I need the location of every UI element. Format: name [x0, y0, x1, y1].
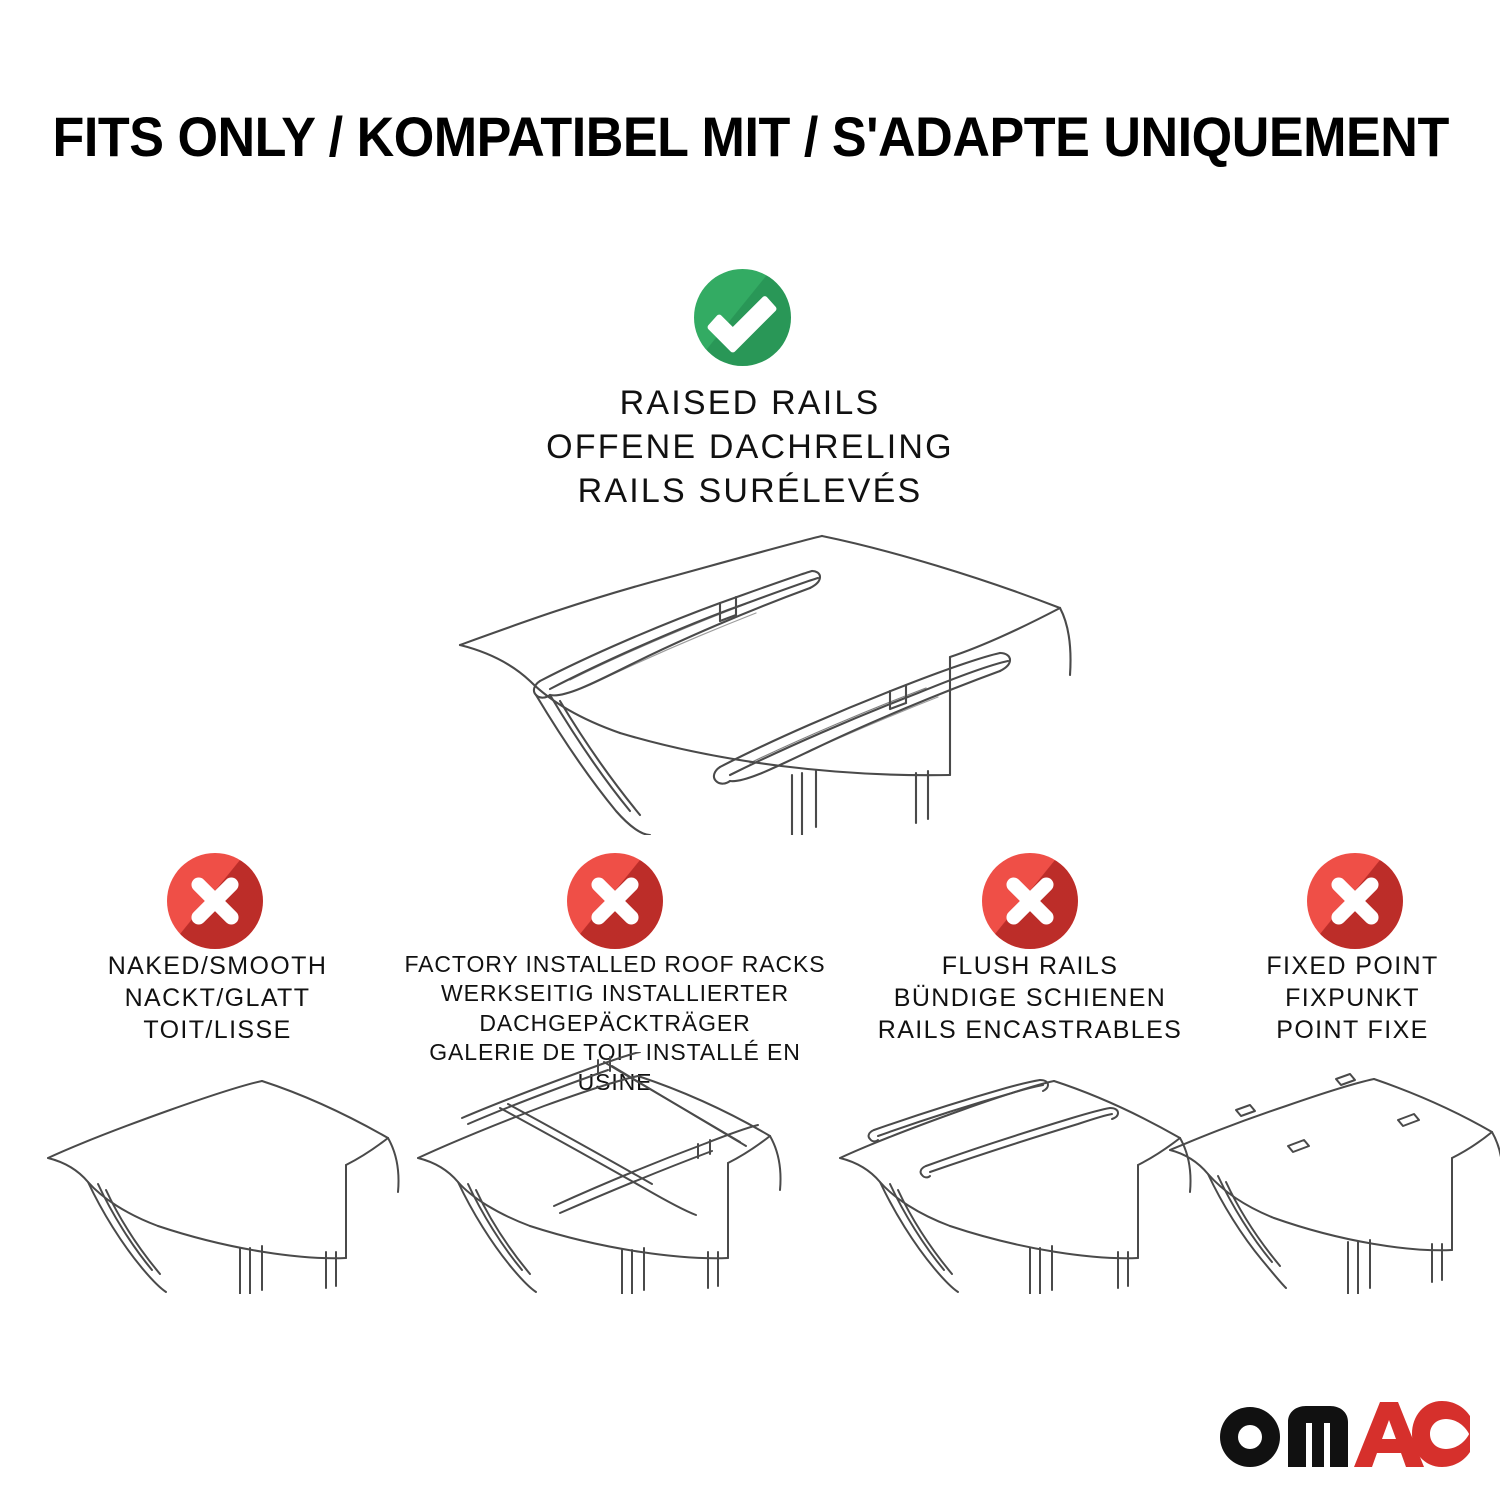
compatible-caption: RAISED RAILS OFFENE DACHRELING RAILS SUR… — [450, 381, 1050, 514]
incompatible-4-line-3: POINT FIXE — [1205, 1014, 1500, 1046]
cross-circle-icon — [982, 853, 1078, 949]
cross-circle-icon — [567, 853, 663, 949]
omac-logo — [1218, 1392, 1470, 1470]
incompatible-3-line-3: RAILS ENCASTRABLES — [855, 1014, 1205, 1046]
incompatible-2-line-1: FACTORY INSTALLED ROOF RACKS — [390, 950, 840, 979]
car-roof-fixed-point-illustration — [1160, 1062, 1500, 1294]
incompatible-2-line-3: DACHGEPÄCKTRÄGER — [390, 1009, 840, 1038]
check-circle-icon — [694, 269, 791, 366]
cross-circle-icon — [167, 853, 263, 949]
incompatible-1-line-3: TOIT/LISSE — [45, 1014, 390, 1046]
page-title: FITS ONLY / KOMPATIBEL MIT / S'ADAPTE UN… — [53, 104, 1448, 169]
car-roof-factory-racks-illustration — [408, 1052, 808, 1294]
cross-circle-icon — [1307, 853, 1403, 949]
incompatible-1-line-2: NACKT/GLATT — [45, 982, 390, 1014]
incompatible-caption-1: NAKED/SMOOTH NACKT/GLATT TOIT/LISSE — [45, 950, 390, 1046]
incompatible-2-line-2: WERKSEITIG INSTALLIERTER — [390, 979, 840, 1008]
incompatible-3-line-1: FLUSH RAILS — [855, 950, 1205, 982]
incompatible-4-line-1: FIXED POINT — [1205, 950, 1500, 982]
incompatible-caption-3: FLUSH RAILS BÜNDIGE SCHIENEN RAILS ENCAS… — [855, 950, 1205, 1046]
car-roof-raised-rails-illustration — [420, 505, 1110, 835]
incompatible-3-line-2: BÜNDIGE SCHIENEN — [855, 982, 1205, 1014]
compatible-line-1: RAISED RAILS — [450, 381, 1050, 425]
incompatible-4-line-2: FIXPUNKT — [1205, 982, 1500, 1014]
incompatible-1-line-1: NAKED/SMOOTH — [45, 950, 390, 982]
compatible-line-2: OFFENE DACHRELING — [450, 425, 1050, 469]
incompatible-caption-4: FIXED POINT FIXPUNKT POINT FIXE — [1205, 950, 1500, 1046]
car-roof-naked-smooth-illustration — [40, 1062, 420, 1294]
